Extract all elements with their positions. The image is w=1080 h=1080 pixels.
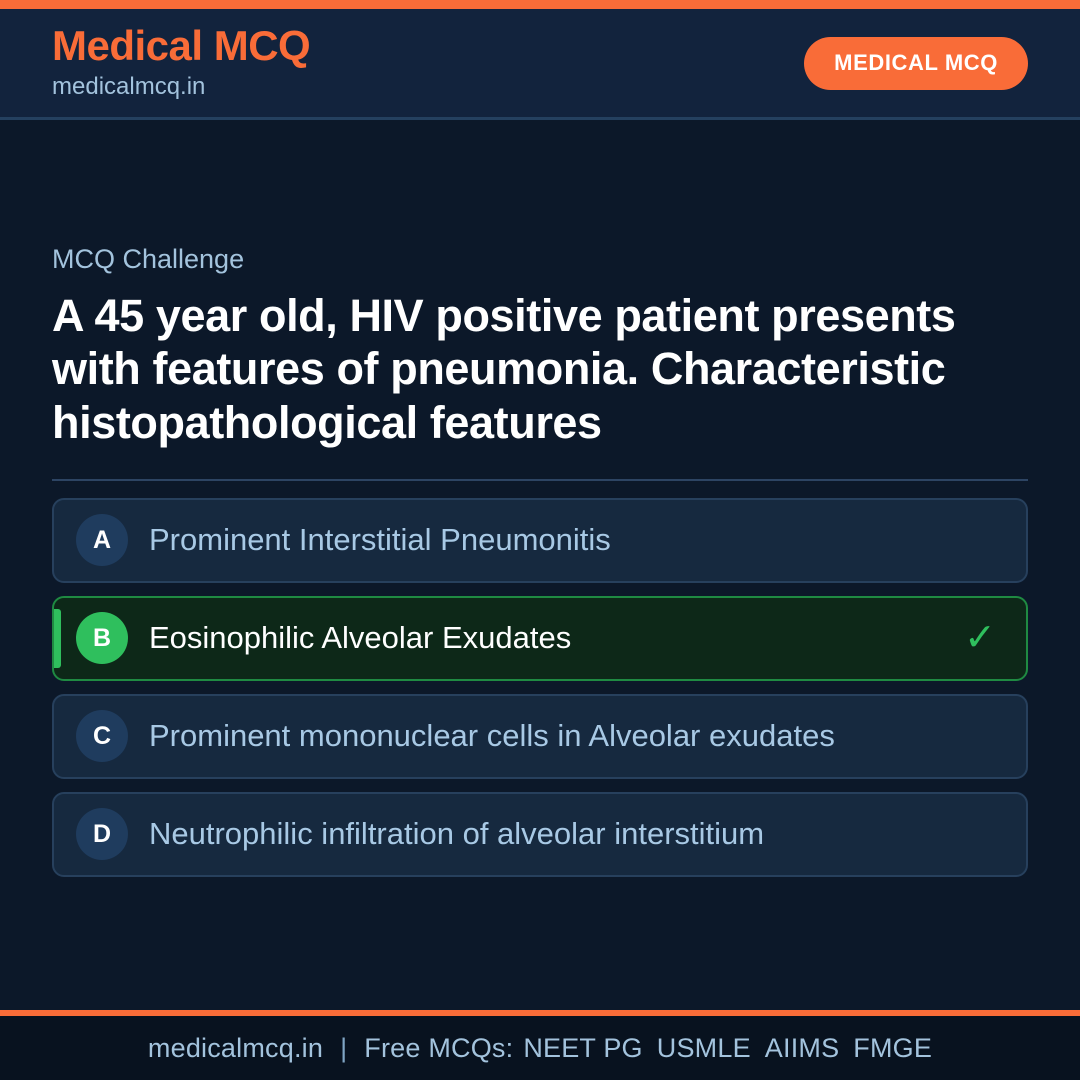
mcq-card: Medical MCQ medicalmcq.in MEDICAL MCQ MC… (0, 0, 1080, 1080)
main-content: MCQ Challenge A 45 year old, HIV positiv… (0, 120, 1080, 1010)
footer-exam-tag[interactable]: AIIMS (765, 1033, 840, 1064)
question-title: A 45 year old, HIV positive patient pres… (52, 289, 1027, 448)
footer: medicalmcq.in | Free MCQs: NEET PG USMLE… (0, 1016, 1080, 1080)
header-badge: MEDICAL MCQ (804, 37, 1028, 90)
eyebrow-label: MCQ Challenge (52, 243, 1028, 275)
footer-site[interactable]: medicalmcq.in (148, 1033, 323, 1064)
footer-text: medicalmcq.in | Free MCQs: NEET PG USMLE… (148, 1033, 932, 1064)
option-row-a[interactable]: A Prominent Interstitial Pneumonitis (52, 498, 1028, 583)
footer-free-label: Free MCQs: (364, 1033, 513, 1064)
option-row-b[interactable]: B Eosinophilic Alveolar Exudates ✓ (52, 596, 1028, 681)
top-accent-bar (0, 0, 1080, 9)
question-divider (52, 479, 1028, 481)
header: Medical MCQ medicalmcq.in MEDICAL MCQ (0, 9, 1080, 120)
option-label: Eosinophilic Alveolar Exudates (149, 621, 960, 655)
footer-exam-tag[interactable]: FMGE (853, 1033, 932, 1064)
check-icon: ✓ (960, 618, 1000, 658)
option-label: Prominent Interstitial Pneumonitis (149, 523, 1004, 557)
footer-exam-tag[interactable]: NEET PG (523, 1033, 642, 1064)
footer-exam-tag[interactable]: USMLE (657, 1033, 751, 1064)
option-letter-badge: B (76, 612, 128, 664)
brand-block: Medical MCQ medicalmcq.in (52, 23, 310, 102)
footer-separator: | (323, 1033, 364, 1064)
option-row-c[interactable]: C Prominent mononuclear cells in Alveola… (52, 694, 1028, 779)
option-accent-bar (54, 609, 61, 668)
brand-subtitle: medicalmcq.in (52, 71, 310, 102)
footer-exam-tags: NEET PG USMLE AIIMS FMGE (513, 1033, 932, 1064)
brand-title: Medical MCQ (52, 25, 310, 68)
option-label: Neutrophilic infiltration of alveolar in… (149, 817, 1004, 851)
option-label: Prominent mononuclear cells in Alveolar … (149, 719, 1004, 753)
option-letter-badge: A (76, 514, 128, 566)
option-letter-badge: C (76, 710, 128, 762)
option-letter-badge: D (76, 808, 128, 860)
options-list: A Prominent Interstitial Pneumonitis B E… (52, 498, 1028, 877)
option-row-d[interactable]: D Neutrophilic infiltration of alveolar … (52, 792, 1028, 877)
